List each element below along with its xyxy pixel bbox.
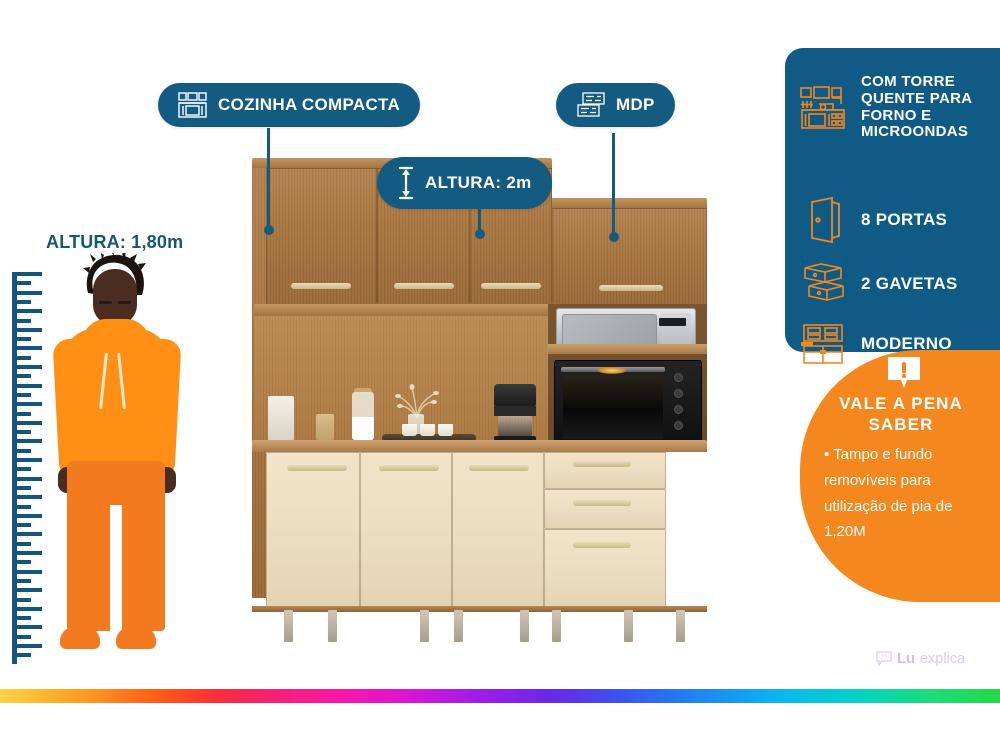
infographic-canvas: ALTURA: 1,80m [0, 0, 1000, 750]
countertop [252, 440, 707, 452]
ruler-tick [17, 272, 42, 276]
lower-door-4[interactable] [544, 529, 666, 612]
note-panel: VALE A PENA SABER • Tampo e fundo removí… [800, 350, 1000, 602]
person-height-label: ALTURA: 1,80m [46, 232, 183, 253]
coffee-maker [492, 384, 536, 442]
badge-altura[interactable]: ALTURA: 2m [377, 157, 552, 209]
feature-label-portas: 8 PORTAS [861, 210, 947, 229]
note-bullet: • Tampo e fundo removíveis para utilizaç… [824, 442, 992, 545]
tall-jar [352, 392, 374, 440]
badge-mdp[interactable]: MDP [556, 83, 675, 127]
ruler-tick [17, 421, 42, 425]
kitchen-icon [178, 92, 208, 118]
microwave-door [562, 314, 657, 346]
hood [82, 319, 150, 349]
ruler-tick [17, 356, 31, 360]
leg-gap [110, 505, 122, 633]
speech-bubble-icon: ?? [876, 651, 892, 666]
base-rail [252, 606, 707, 612]
ruler-tick [17, 486, 31, 490]
ruler-tick [17, 477, 42, 481]
note-title: VALE A PENA SABER [812, 394, 990, 435]
foot-6 [552, 610, 561, 642]
foot-5 [520, 610, 529, 642]
leader-line-mdp [612, 133, 615, 233]
feature-label-gavetas: 2 GAVETAS [861, 274, 958, 293]
ruler-tick [17, 467, 31, 471]
handle-lower-4[interactable] [573, 542, 631, 548]
foot-7 [624, 610, 633, 642]
handle-upper-1[interactable] [291, 283, 351, 289]
ruler-tick [17, 579, 31, 583]
ruler-tick [17, 532, 42, 536]
badge-label-altura: ALTURA: 2m [425, 173, 532, 193]
logo-suffix: explica [920, 650, 965, 667]
kitchen-appliances-icon [799, 84, 847, 132]
ruler-tick [17, 588, 42, 592]
ruler-tick [17, 319, 31, 323]
drawer-1[interactable] [544, 452, 666, 489]
panels-icon [576, 92, 606, 118]
lu-explica-logo: ?? Lu explica [876, 650, 965, 667]
oven-appliance [554, 360, 702, 448]
ruler-tick [17, 281, 31, 285]
small-jar [316, 414, 334, 440]
lower-door-2[interactable] [360, 452, 452, 612]
ruler-tick [17, 523, 31, 527]
ruler-tick [17, 635, 31, 639]
handle-lower-2[interactable] [379, 465, 439, 471]
microwave-control-panel [661, 313, 691, 347]
vertical-arrow-icon [397, 166, 415, 200]
ruler-tick [17, 598, 31, 602]
shoe-left [60, 627, 100, 649]
ruler-tick [17, 309, 42, 313]
hoodie-body [64, 329, 168, 469]
exclamation-bubble-icon [886, 356, 922, 390]
upper-door-1[interactable] [266, 168, 377, 304]
lower-door-1[interactable] [266, 452, 360, 612]
ruler-tick [17, 514, 42, 518]
tower-upper-door[interactable] [552, 208, 707, 304]
foot-8 [676, 610, 685, 642]
ruler-tick [17, 439, 42, 443]
open-door-icon [799, 196, 847, 244]
ruler-tick [17, 384, 42, 388]
feature-row-gavetas: 2 GAVETAS [799, 260, 995, 308]
person-illustration [52, 253, 182, 668]
eye-left [99, 301, 112, 304]
handle-tower[interactable] [599, 285, 663, 291]
ruler-tick [17, 449, 31, 453]
ruler-tick [17, 337, 31, 341]
cup-2 [420, 424, 435, 436]
logo-brand: Lu [897, 650, 915, 667]
handle-drawer-1[interactable] [573, 461, 631, 467]
ruler-tick [17, 551, 42, 555]
lower-door-3[interactable] [452, 452, 544, 612]
badge-label-mdp: MDP [616, 95, 655, 115]
ruler-tick [17, 653, 31, 657]
tower-shelf [548, 344, 707, 354]
oven-control-panel [664, 371, 696, 441]
upper-cabinet-base [254, 304, 550, 316]
handle-upper-2[interactable] [394, 283, 454, 289]
ruler-tick [17, 542, 31, 546]
rainbow-divider [0, 689, 1000, 703]
drawer-2[interactable] [544, 489, 666, 529]
ruler-tick [17, 570, 42, 574]
ruler-tick [17, 625, 42, 629]
ruler-tick [17, 607, 42, 611]
features-panel: COM TORRE QUENTE PARA FORNO E MICROONDAS… [785, 48, 1000, 352]
modern-cabinet-icon [799, 320, 847, 368]
ruler-tick [17, 402, 42, 406]
handle-lower-1[interactable] [287, 465, 347, 471]
ruler-tick [17, 393, 31, 397]
feature-row-torre-quente: COM TORRE QUENTE PARA FORNO E MICROONDAS [799, 74, 995, 141]
handle-drawer-2[interactable] [573, 500, 631, 506]
handle-lower-3[interactable] [469, 465, 529, 471]
ruler-tick [17, 346, 42, 350]
svg-text:??: ?? [881, 655, 888, 661]
feature-row-portas: 8 PORTAS [799, 196, 995, 244]
leader-line-cozinha [267, 128, 270, 226]
badge-label-cozinha: COZINHA COMPACTA [218, 95, 400, 115]
drawers-icon [799, 260, 847, 308]
foot-2 [328, 610, 337, 642]
feature-label-torre-quente: COM TORRE QUENTE PARA FORNO E MICROONDAS [861, 74, 995, 141]
ruler-tick [17, 495, 42, 499]
ruler-tick [17, 430, 31, 434]
ruler-tick [17, 291, 42, 295]
ruler-tick [17, 328, 42, 332]
countertop-decor [266, 380, 546, 442]
ruler-tick [17, 300, 31, 304]
microwave-display [659, 318, 686, 326]
ruler-tick [17, 616, 31, 620]
ruler-tick [17, 505, 31, 509]
foot-1 [284, 610, 293, 642]
ruler-tick [17, 412, 31, 416]
ruler [12, 272, 46, 664]
handle-upper-3[interactable] [481, 283, 541, 289]
dried-flowers-icon [394, 384, 440, 418]
ruler-tick [17, 374, 31, 378]
oven-light [597, 367, 627, 374]
eye-right [118, 301, 131, 304]
cup-3 [438, 424, 453, 436]
ruler-tick [17, 560, 31, 564]
badge-cozinha-compacta[interactable]: COZINHA COMPACTA [158, 83, 420, 127]
ruler-tick [17, 365, 42, 369]
foot-4 [454, 610, 463, 642]
coffee-bag [268, 396, 294, 440]
shoe-right [116, 627, 156, 649]
ruler-tick [17, 458, 42, 462]
cup-1 [402, 424, 417, 436]
foot-3 [420, 610, 429, 642]
ruler-tick [17, 644, 42, 648]
oven-glass-door [563, 375, 663, 439]
